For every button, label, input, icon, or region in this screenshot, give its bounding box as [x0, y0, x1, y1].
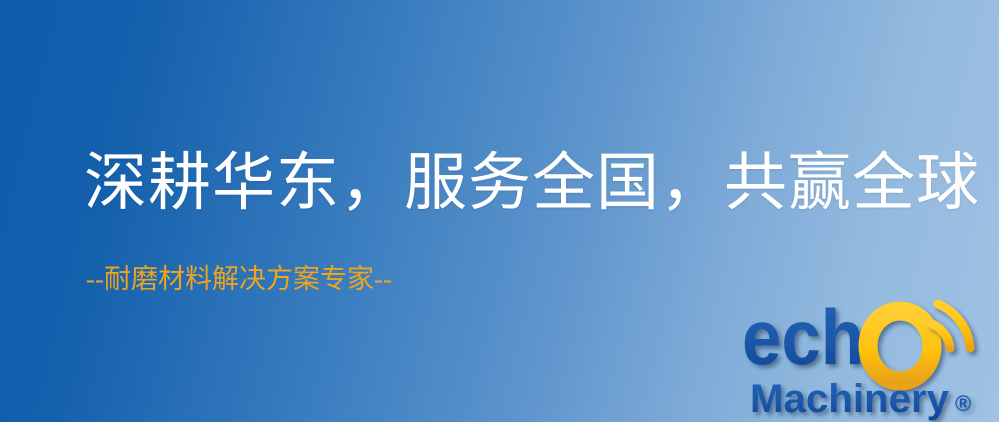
- hero-banner: 深耕华东，服务全国，共赢全球 --耐磨材料解决方案专家--: [0, 0, 999, 422]
- logo-subbrand-machinery: Machinery ®: [750, 377, 971, 421]
- headline-text: 深耕华东，服务全国，共赢全球: [84, 152, 980, 215]
- logo-wordmark-ech: ech: [742, 296, 864, 381]
- logo-subbrand-text: Machinery: [750, 377, 950, 421]
- subtitle-text: --耐磨材料解决方案专家--: [86, 266, 392, 293]
- logo-wordmark-ech-text: ech: [742, 296, 864, 381]
- echo-machinery-logo: ech Machinery ®: [742, 296, 999, 422]
- logo-o-ring-icon: [868, 311, 932, 381]
- logo-trademark-symbol: ®: [955, 391, 971, 416]
